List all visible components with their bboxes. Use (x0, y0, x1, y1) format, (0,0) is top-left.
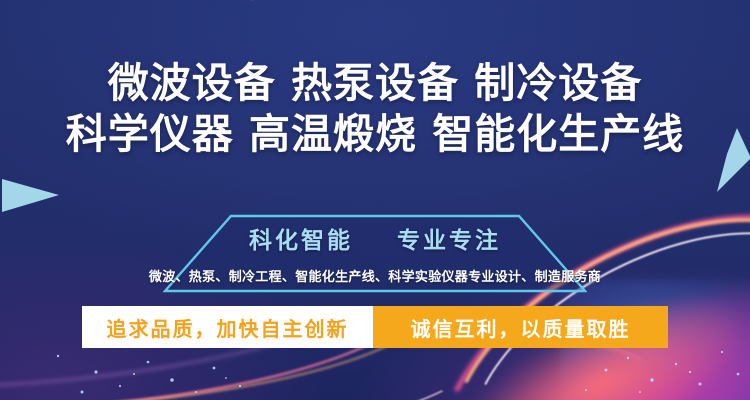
integrity-panel-label: 诚信互利，以质量取胜 (411, 313, 631, 342)
quality-panel[interactable]: 追求品质，加快自主创新 (82, 306, 373, 348)
promo-banner: 微波设备 热泵设备 制冷设备 科学仪器 高温煅烧 智能化生产线 科化智能 专业专… (0, 0, 750, 400)
headline: 微波设备 热泵设备 制冷设备 科学仪器 高温煅烧 智能化生产线 (0, 58, 750, 160)
headline-line-2: 科学仪器 高温煅烧 智能化生产线 (0, 109, 750, 160)
headline-line-1: 微波设备 热泵设备 制冷设备 (0, 58, 750, 109)
quality-panel-label: 追求品质，加快自主创新 (107, 313, 349, 342)
slogan-right: 专业专注 (397, 228, 501, 254)
bottom-slogan-bar: 追求品质，加快自主创新 诚信互利，以质量取胜 (82, 306, 668, 348)
badge-slogans: 科化智能 专业专注 (163, 224, 587, 258)
slogan-left: 科化智能 (249, 228, 353, 254)
badge-description: 微波、热泵、制冷工程、智能化生产线、科学实验仪器专业设计、制造服务商 (0, 266, 750, 285)
left-arrow-icon (2, 179, 59, 212)
integrity-panel[interactable]: 诚信互利，以质量取胜 (373, 306, 668, 348)
